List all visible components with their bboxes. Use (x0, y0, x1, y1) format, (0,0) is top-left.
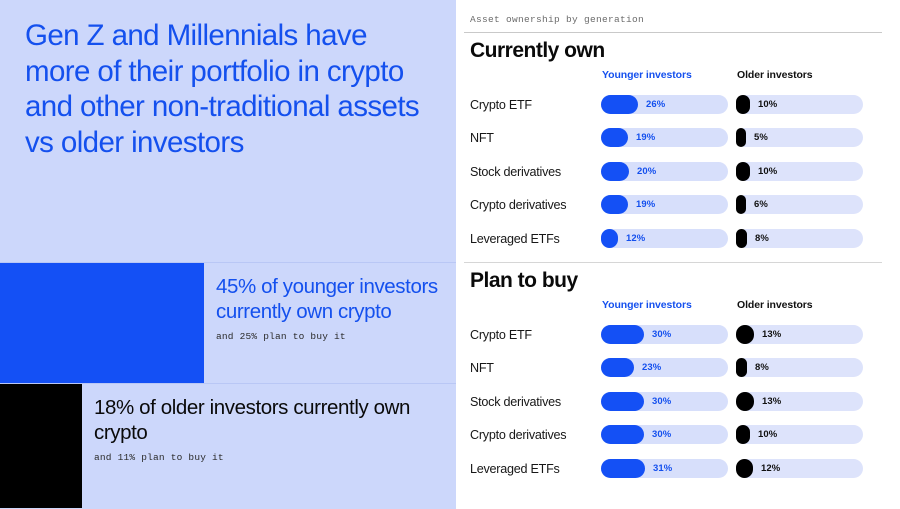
bar-track (736, 162, 863, 181)
bar-track (736, 325, 863, 344)
chart-row: Crypto ETF30%13% (464, 321, 882, 354)
chart-row: NFT23%8% (464, 354, 882, 387)
chart-title-1: Plan to buy (470, 269, 882, 293)
chart-row: Stock derivatives20%10% (464, 158, 882, 191)
bar-younger: 30% (601, 392, 728, 411)
bar-younger: 30% (601, 325, 728, 344)
bar-value-label: 30% (652, 396, 671, 407)
bar-older: 10% (736, 95, 863, 114)
bar-older: 13% (736, 325, 863, 344)
bar-younger: 19% (601, 128, 728, 147)
bar-younger: 26% (601, 95, 728, 114)
bar-track (601, 229, 728, 248)
callout-swatch-blue (0, 263, 204, 383)
legend-older-1: Older investors (737, 299, 813, 311)
bar-value-label: 20% (637, 166, 656, 177)
callout-older-title: 18% of older investors currently own cry… (94, 396, 456, 445)
bar-value-label: 13% (762, 396, 781, 407)
chart-row: Leveraged ETFs31%12% (464, 455, 882, 488)
chart-row: NFT19%5% (464, 124, 882, 157)
bar-fill (601, 325, 644, 344)
bar-older: 8% (736, 229, 863, 248)
kicker-divider (464, 32, 882, 33)
bar-fill (601, 459, 645, 478)
bar-fill (736, 425, 750, 444)
bar-older: 10% (736, 162, 863, 181)
bar-younger: 23% (601, 358, 728, 377)
callout-younger-sub: and 25% plan to buy it (216, 331, 456, 342)
bar-value-label: 26% (646, 99, 665, 110)
chart-row: Crypto derivatives19%6% (464, 191, 882, 224)
bar-value-label: 30% (652, 329, 671, 340)
bar-fill (736, 128, 746, 147)
callout-younger: 45% of younger investors currently own c… (0, 263, 456, 383)
bar-value-label: 19% (636, 132, 655, 143)
right-panel: Asset ownership by generation Currently … (456, 0, 900, 509)
bar-fill (601, 392, 644, 411)
bar-fill (736, 195, 746, 214)
bar-value-label: 30% (652, 429, 671, 440)
infographic-page: Gen Z and Millennials have more of their… (0, 0, 900, 509)
bar-value-label: 5% (754, 132, 768, 143)
bar-fill (736, 459, 753, 478)
legend-0: Younger investors Older investors (464, 69, 882, 89)
left-panel: Gen Z and Millennials have more of their… (0, 0, 456, 509)
chart-row: Crypto derivatives30%10% (464, 421, 882, 454)
callout-list: 45% of younger investors currently own c… (0, 262, 456, 508)
bar-value-label: 19% (636, 199, 655, 210)
bar-value-label: 10% (758, 99, 777, 110)
bar-value-label: 6% (754, 199, 768, 210)
bar-older: 8% (736, 358, 863, 377)
chart-row-label: Crypto ETF (470, 328, 532, 342)
bar-fill (601, 425, 644, 444)
bar-fill (736, 358, 747, 377)
legend-1: Younger investors Older investors (464, 299, 882, 319)
legend-younger-1: Younger investors (602, 299, 692, 311)
bar-fill (736, 392, 754, 411)
bar-track (736, 425, 863, 444)
chart-section-plan-to-buy: Plan to buy Younger investors Older inve… (464, 269, 882, 488)
callout-swatch-black (0, 384, 82, 508)
legend-younger-0: Younger investors (602, 69, 692, 81)
bar-value-label: 12% (761, 463, 780, 474)
bar-younger: 12% (601, 229, 728, 248)
legend-older-0: Older investors (737, 69, 813, 81)
chart-row-label: Leveraged ETFs (470, 462, 560, 476)
bar-fill (601, 195, 628, 214)
bar-value-label: 31% (653, 463, 672, 474)
bar-older: 10% (736, 425, 863, 444)
bar-fill (601, 358, 634, 377)
bar-fill (736, 162, 750, 181)
chart-row: Stock derivatives30%13% (464, 388, 882, 421)
bar-value-label: 23% (642, 362, 661, 373)
bar-value-label: 8% (755, 362, 769, 373)
bar-older: 13% (736, 392, 863, 411)
bar-value-label: 13% (762, 329, 781, 340)
chart-row-label: NFT (470, 361, 494, 375)
chart-row: Crypto ETF26%10% (464, 91, 882, 124)
section-divider (464, 262, 882, 263)
bar-older: 12% (736, 459, 863, 478)
bar-younger: 20% (601, 162, 728, 181)
chart-row-label: Crypto derivatives (470, 198, 566, 212)
bar-fill (736, 229, 747, 248)
chart-row-label: Stock derivatives (470, 165, 561, 179)
bar-fill (736, 95, 750, 114)
chart-row-label: Stock derivatives (470, 395, 561, 409)
chart-rows-0: Crypto ETF26%10%NFT19%5%Stock derivative… (464, 91, 882, 258)
bar-value-label: 10% (758, 166, 777, 177)
bar-younger: 30% (601, 425, 728, 444)
callout-older-sub: and 11% plan to buy it (94, 452, 456, 463)
chart-section-currently-own: Currently own Younger investors Older in… (464, 39, 882, 258)
chart-row-label: Crypto derivatives (470, 428, 566, 442)
bar-fill (601, 128, 628, 147)
callout-older-text: 18% of older investors currently own cry… (82, 384, 456, 508)
bar-value-label: 10% (758, 429, 777, 440)
bar-track (736, 95, 863, 114)
bar-fill (601, 229, 618, 248)
page-title: Gen Z and Millennials have more of their… (25, 18, 435, 160)
bar-track (736, 459, 863, 478)
chart-row-label: Crypto ETF (470, 98, 532, 112)
chart-row-label: NFT (470, 131, 494, 145)
bar-track (736, 392, 863, 411)
bar-value-label: 8% (755, 233, 769, 244)
bar-value-label: 12% (626, 233, 645, 244)
bar-fill (736, 325, 754, 344)
bar-fill (601, 95, 638, 114)
callout-younger-title: 45% of younger investors currently own c… (216, 275, 456, 324)
bar-younger: 31% (601, 459, 728, 478)
bar-older: 6% (736, 195, 863, 214)
callout-older: 18% of older investors currently own cry… (0, 384, 456, 508)
callout-younger-text: 45% of younger investors currently own c… (204, 263, 456, 383)
chart-rows-1: Crypto ETF30%13%NFT23%8%Stock derivative… (464, 321, 882, 488)
bar-younger: 19% (601, 195, 728, 214)
chart-row: Leveraged ETFs12%8% (464, 225, 882, 258)
chart-title-0: Currently own (470, 39, 882, 63)
bar-older: 5% (736, 128, 863, 147)
bar-fill (601, 162, 629, 181)
chart-kicker: Asset ownership by generation (470, 14, 882, 25)
chart-row-label: Leveraged ETFs (470, 232, 560, 246)
